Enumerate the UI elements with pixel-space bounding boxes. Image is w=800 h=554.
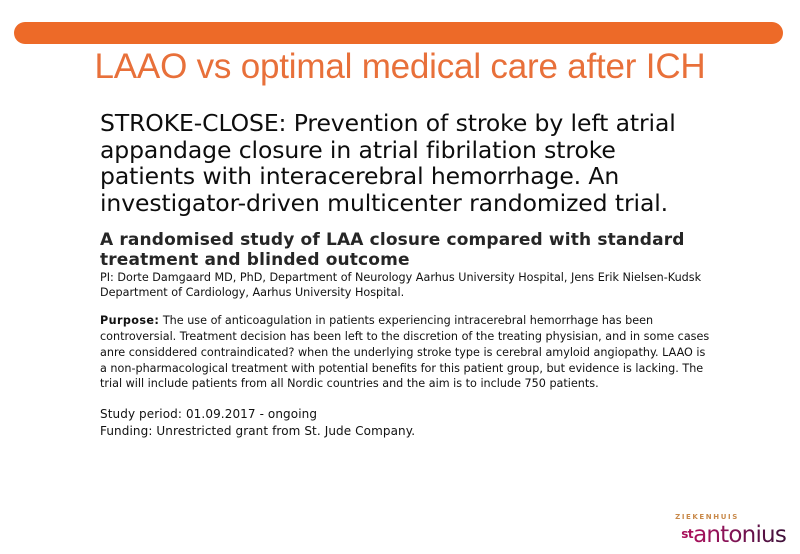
header-accent-bar [14, 22, 783, 44]
slide-title: LAAO vs optimal medical care after ICH [0, 47, 800, 87]
slide-canvas: { "slide": { "title": "LAAO vs optimal m… [0, 0, 800, 554]
logo-wordmark: st antonius [634, 522, 786, 548]
purpose-paragraph: Purpose: The use of anticoagulation in p… [100, 313, 712, 393]
purpose-text: The use of anticoagulation in patients e… [100, 314, 709, 391]
study-subheading: A randomised study of LAA closure compar… [100, 230, 712, 270]
logo-kicker-text: ZIEKENHUIS [634, 513, 780, 521]
study-heading: STROKE-CLOSE: Prevention of stroke by le… [100, 110, 712, 216]
hospital-logo: ZIEKENHUIS st antonius [634, 513, 786, 548]
study-period-line: Study period: 01.09.2017 - ongoing [100, 406, 712, 422]
purpose-label: Purpose: [100, 314, 159, 327]
logo-name-text: antonius [693, 522, 786, 548]
logo-prefix-text: st [681, 527, 693, 541]
slide-body: STROKE-CLOSE: Prevention of stroke by le… [100, 110, 712, 439]
principal-investigator-line: PI: Dorte Damgaard MD, PhD, Department o… [100, 271, 712, 301]
funding-line: Funding: Unrestricted grant from St. Jud… [100, 423, 712, 439]
